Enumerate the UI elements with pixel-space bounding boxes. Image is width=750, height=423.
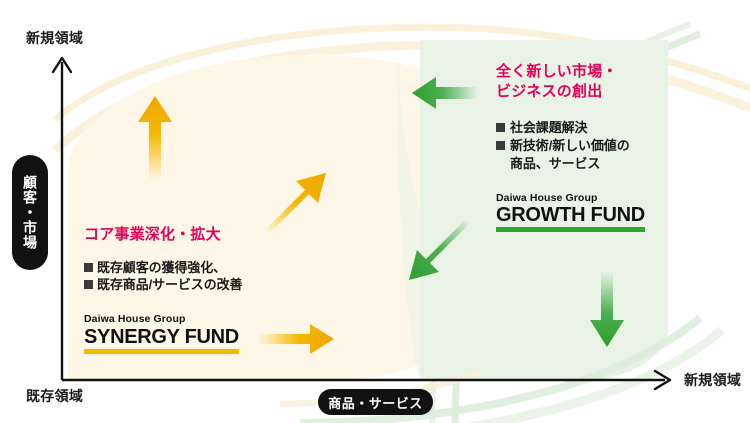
new-market-heading: 全く新しい市場・ ビジネスの創出	[496, 62, 706, 101]
diagram-canvas: 新規領域 既存領域 新規領域 顧客・市場 商品・サービス コア事業深化・拡大 既…	[0, 0, 750, 423]
yellow-up-arrow	[138, 96, 172, 180]
growth-fund-logo: Daiwa House Group GROWTH FUND	[496, 193, 645, 233]
y-axis-low-label: 既存領域	[26, 386, 83, 406]
green-down-arrow	[590, 272, 624, 347]
growth-fund-sublabel: Daiwa House Group	[496, 193, 645, 205]
new-market-bullet-item: 新技術/新しい価値の 商品、サービス	[496, 137, 706, 173]
new-market-bullet-list: 社会課題解決 新技術/新しい価値の 商品、サービス	[496, 119, 706, 173]
green-left-arrow	[412, 77, 478, 109]
new-market-bullet-item: 社会課題解決	[496, 119, 706, 137]
synergy-fund-logo: Daiwa House Group SYNERGY FUND	[84, 314, 239, 354]
synergy-fund-name: SYNERGY FUND	[84, 327, 239, 354]
y-axis-arrowhead	[53, 58, 71, 72]
core-bullet-item: 既存顧客の獲得強化、	[84, 259, 349, 277]
x-axis-title-pill: 商品・サービス	[318, 389, 433, 415]
growth-fund-name: GROWTH FUND	[496, 205, 645, 232]
core-heading: コア事業深化・拡大	[84, 225, 349, 245]
core-bullet-list: 既存顧客の獲得強化、 既存商品/サービスの改善	[84, 259, 349, 295]
y-axis-high-label: 新規領域	[26, 28, 83, 48]
green-diagonal-arrow	[409, 219, 470, 280]
x-axis-high-label: 新規領域	[684, 370, 741, 390]
core-bullet-item: 既存商品/サービスの改善	[84, 276, 349, 294]
quadrant-new-market: 全く新しい市場・ ビジネスの創出 社会課題解決 新技術/新しい価値の 商品、サー…	[496, 62, 706, 232]
synergy-fund-sublabel: Daiwa House Group	[84, 314, 239, 326]
quadrant-core-business: コア事業深化・拡大 既存顧客の獲得強化、 既存商品/サービスの改善 Daiwa …	[84, 225, 349, 354]
y-axis-title-pill: 顧客・市場	[12, 155, 48, 270]
x-axis-arrowhead	[655, 371, 670, 389]
